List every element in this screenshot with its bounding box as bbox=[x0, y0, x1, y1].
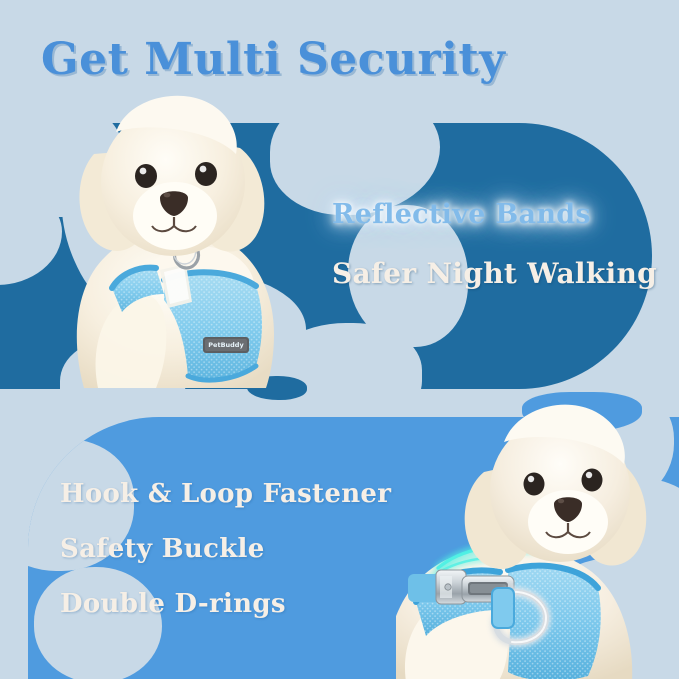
feature-reflective-bands: Reflective Bands bbox=[332, 199, 591, 230]
page-title: Get Multi Security bbox=[41, 34, 641, 85]
dog-eye-left bbox=[135, 164, 157, 188]
infographic-canvas: Get Multi Security bbox=[0, 0, 679, 679]
dog-photo-top: PetBuddy bbox=[60, 88, 310, 388]
harness-brand-label: PetBuddy bbox=[203, 337, 249, 353]
dog-eye-right bbox=[195, 162, 217, 186]
svg-text:PetBuddy: PetBuddy bbox=[208, 341, 244, 349]
dog-eye-left bbox=[524, 473, 545, 496]
dog-photo-bottom bbox=[396, 392, 668, 679]
feature-safety-buckle: Safety Buckle bbox=[60, 534, 265, 564]
feature-safer-night-walking: Safer Night Walking bbox=[332, 257, 657, 290]
paw-blob-decor bbox=[34, 567, 162, 679]
dog-eye-right bbox=[582, 469, 603, 492]
dog-head-bottom bbox=[465, 405, 647, 569]
feature-double-d-rings: Double D-rings bbox=[60, 589, 286, 619]
feature-hook-loop-fastener: Hook & Loop Fastener bbox=[60, 479, 391, 509]
dog-head-top bbox=[79, 96, 264, 256]
